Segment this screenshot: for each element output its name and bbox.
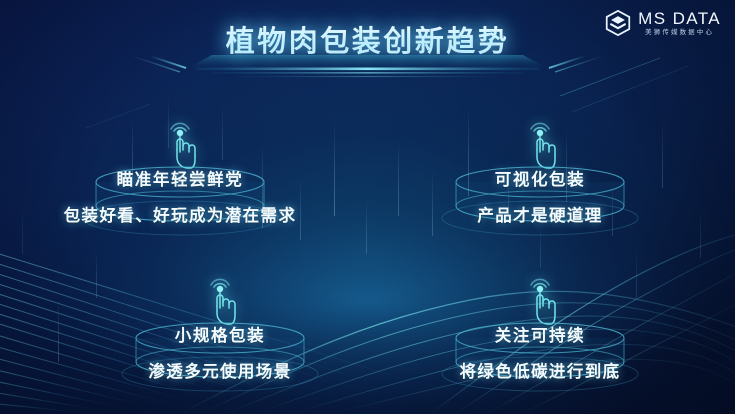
tap-hand-icon xyxy=(197,268,243,326)
icon-container xyxy=(70,262,370,326)
feature-line-1: 瞄准年轻尝鲜党 xyxy=(30,166,330,190)
title-underline-decor xyxy=(0,54,735,88)
feature-text: 小规格包装 渗透多元使用场景 xyxy=(70,322,370,382)
feature-line-2: 包装好看、好玩成为潜在需求 xyxy=(30,202,330,226)
feature-line-2: 将绿色低碳进行到底 xyxy=(390,358,690,382)
podium-decor: 小规格包装 渗透多元使用场景 xyxy=(70,322,370,396)
tap-hand-icon xyxy=(517,268,563,326)
icon-container xyxy=(390,262,690,326)
feature-text: 关注可持续 将绿色低碳进行到底 xyxy=(390,322,690,382)
slide-canvas: MS DATA 美狮传媒数据中心 植物肉包装创新趋势 xyxy=(0,0,735,414)
feature-text: 可视化包装 产品才是硬道理 xyxy=(390,166,690,226)
icon-container xyxy=(390,106,690,170)
feature-line-1: 可视化包装 xyxy=(390,166,690,190)
podium-decor: 瞄准年轻尝鲜党 包装好看、好玩成为潜在需求 xyxy=(30,166,330,240)
tap-hand-icon xyxy=(157,112,203,170)
feature-item-1: 瞄准年轻尝鲜党 包装好看、好玩成为潜在需求 xyxy=(30,106,330,240)
tap-hand-icon xyxy=(517,112,563,170)
feature-line-2: 渗透多元使用场景 xyxy=(70,358,370,382)
feature-item-4: 关注可持续 将绿色低碳进行到底 xyxy=(390,262,690,396)
feature-line-1: 关注可持续 xyxy=(390,322,690,346)
feature-line-1: 小规格包装 xyxy=(70,322,370,346)
icon-container xyxy=(30,106,330,170)
podium-decor: 关注可持续 将绿色低碳进行到底 xyxy=(390,322,690,396)
feature-text: 瞄准年轻尝鲜党 包装好看、好玩成为潜在需求 xyxy=(30,166,330,226)
podium-decor: 可视化包装 产品才是硬道理 xyxy=(390,166,690,240)
feature-item-2: 可视化包装 产品才是硬道理 xyxy=(390,106,690,240)
feature-line-2: 产品才是硬道理 xyxy=(390,202,690,226)
feature-item-3: 小规格包装 渗透多元使用场景 xyxy=(70,262,370,396)
